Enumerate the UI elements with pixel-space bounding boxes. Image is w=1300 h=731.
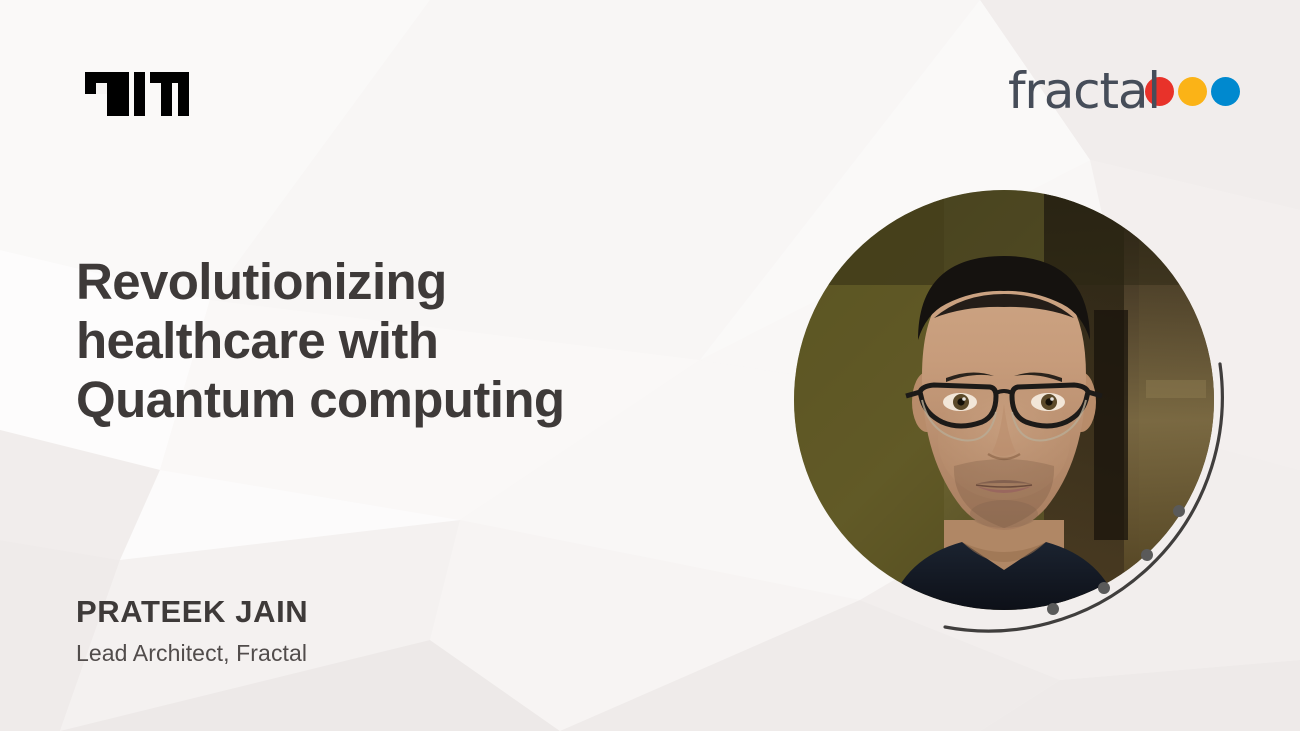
fractal-yellow-dot — [1178, 77, 1207, 106]
fractal-blue-dot — [1211, 77, 1240, 106]
headline-line-1: Revolutionizing — [76, 252, 736, 311]
speaker-photo: Portrait of Prateek Jain — [794, 190, 1214, 610]
fractal-logo[interactable]: fractal — [1008, 66, 1240, 116]
headline-line-3: Quantum computing — [76, 370, 736, 429]
speaker-portrait-image: Portrait of Prateek Jain — [794, 190, 1214, 610]
slide-title: Revolutionizing healthcare with Quantum … — [76, 252, 736, 429]
presentation-slide: AIM fractal Revolutionizing healthcare w… — [0, 0, 1300, 731]
speaker-role: Lead Architect, Fractal — [76, 636, 308, 670]
speaker-photo-clip: Portrait of Prateek Jain — [794, 190, 1214, 610]
headline-line-2: healthcare with — [76, 311, 736, 370]
speaker-block: PRATEEK JAIN Lead Architect, Fractal — [76, 592, 308, 670]
fractal-wordmark: fractal — [1008, 66, 1160, 116]
speaker-name: PRATEEK JAIN — [76, 592, 308, 632]
aim-logo[interactable]: AIM — [85, 72, 189, 116]
